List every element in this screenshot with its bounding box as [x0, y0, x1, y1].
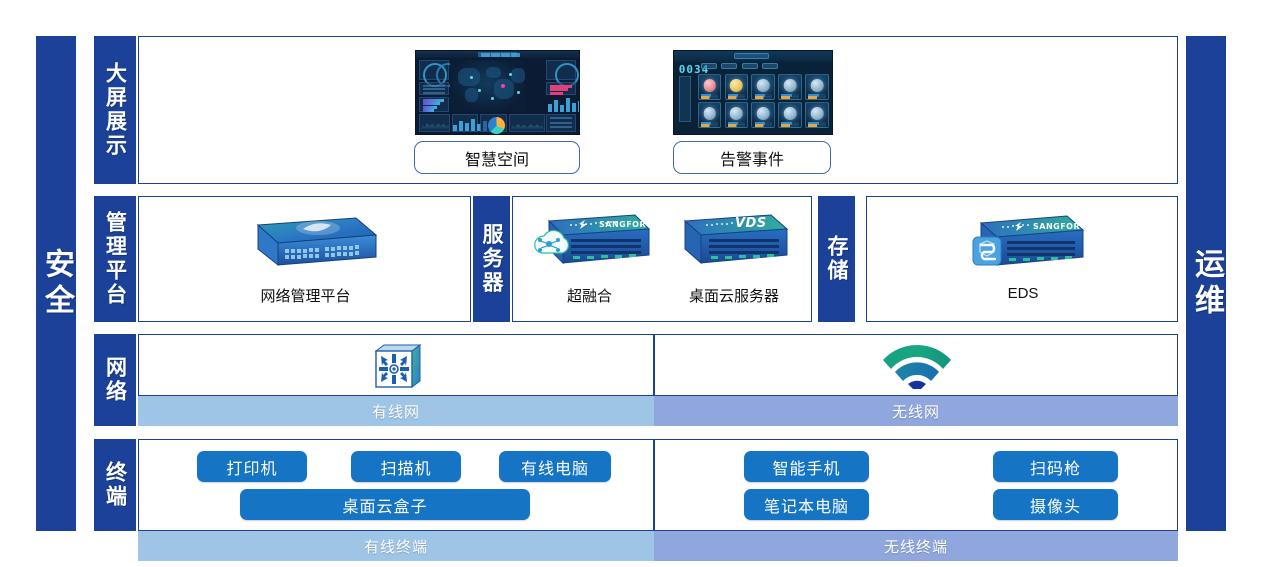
row-label-terminal-text: 终端: [105, 461, 126, 509]
alarm-event-label: 告警事件: [720, 146, 784, 170]
terminal-desktop-cloud-box-label: 桌面云盒子: [342, 493, 427, 517]
svg-text:VDS: VDS: [735, 216, 767, 231]
terminal-scanner[interactable]: 扫描机: [351, 451, 461, 482]
server-panel: SANGFOR 超融合: [512, 196, 812, 322]
row-label-storage: 存储: [818, 196, 855, 322]
terminal-laptop[interactable]: 笔记本电脑: [744, 489, 869, 520]
wireless-terminal-band-label: 无线终端: [884, 536, 948, 557]
wireless-network-band: 无线网: [654, 396, 1178, 426]
switch-icon: [370, 341, 426, 391]
terminal-printer[interactable]: 打印机: [197, 451, 307, 482]
network-management-platform-caption: 网络管理平台: [139, 285, 472, 306]
network-management-platform-icon: [233, 213, 378, 275]
eds-storage-icon: SANGFOR: [959, 211, 1089, 275]
terminal-smartphone[interactable]: 智能手机: [744, 451, 869, 482]
terminal-barcode-scanner-label: 扫码枪: [1030, 455, 1081, 479]
smart-space-label: 智慧空间: [465, 146, 529, 170]
desktop-cloud-server-icon: VDS: [669, 211, 794, 273]
display-row-panel: 智慧空间 0034: [138, 36, 1178, 184]
terminal-scanner-label: 扫描机: [380, 455, 431, 479]
terminal-wired-pc-label: 有线电脑: [521, 455, 589, 479]
wireless-terminal-panel: 智能手机 扫码枪 笔记本电脑 摄像头: [654, 439, 1178, 531]
wired-network-panel: [138, 334, 654, 396]
wired-network-band: 有线网: [138, 396, 654, 426]
terminal-desktop-cloud-box[interactable]: 桌面云盒子: [240, 489, 530, 520]
alarm-mockup: 0034: [674, 51, 832, 134]
row-label-display-text: 大屏展示: [105, 62, 126, 158]
wireless-terminal-band: 无线终端: [654, 531, 1178, 561]
architecture-diagram: 安全 运维 大屏展示: [0, 0, 1261, 567]
row-label-network: 网络: [94, 334, 136, 426]
alarm-event-button[interactable]: 告警事件: [673, 141, 831, 174]
row-label-platform-text: 管理平台: [105, 211, 126, 307]
terminal-smartphone-label: 智能手机: [772, 455, 840, 479]
desktop-cloud-server-caption: 桌面云服务器: [659, 285, 809, 306]
dashboard-mockup: [416, 51, 579, 134]
wired-terminal-band-label: 有线终端: [364, 536, 428, 557]
security-pillar: 安全: [36, 36, 76, 531]
hyperconverged-server-icon: SANGFOR: [527, 211, 652, 273]
wifi-icon: [877, 344, 957, 389]
terminal-barcode-scanner[interactable]: 扫码枪: [993, 451, 1118, 482]
row-label-network-text: 网络: [105, 356, 126, 404]
terminal-printer-label: 打印机: [226, 455, 277, 479]
hyperconverged-server-caption: 超融合: [517, 285, 662, 306]
smart-space-button[interactable]: 智慧空间: [414, 141, 580, 174]
terminal-camera-label: 摄像头: [1030, 493, 1081, 517]
terminal-laptop-label: 笔记本电脑: [764, 493, 849, 517]
operations-pillar: 运维: [1186, 36, 1226, 531]
row-label-server: 服务器: [473, 196, 510, 322]
operations-pillar-label: 运维: [1191, 248, 1221, 320]
terminal-wired-pc[interactable]: 有线电脑: [499, 451, 611, 482]
wired-network-band-label: 有线网: [372, 401, 420, 422]
terminal-camera[interactable]: 摄像头: [993, 489, 1118, 520]
row-label-platform: 管理平台: [94, 196, 136, 322]
wireless-network-panel: [654, 334, 1178, 396]
wireless-network-band-label: 无线网: [892, 401, 940, 422]
row-label-display: 大屏展示: [94, 36, 136, 184]
storage-panel: SANGFOR EDS: [866, 196, 1178, 322]
alarm-event-screen[interactable]: 0034: [673, 50, 833, 135]
row-label-terminal: 终端: [94, 439, 136, 531]
row-label-storage-text: 存储: [826, 235, 847, 283]
security-pillar-label: 安全: [41, 248, 71, 320]
platform-panel: 网络管理平台: [138, 196, 471, 322]
svg-text:SANGFOR: SANGFOR: [1033, 222, 1080, 231]
wired-terminal-panel: 打印机 扫描机 有线电脑 桌面云盒子: [138, 439, 654, 531]
row-label-server-text: 服务器: [481, 223, 502, 295]
wired-terminal-band: 有线终端: [138, 531, 654, 561]
svg-text:SANGFOR: SANGFOR: [599, 220, 646, 229]
eds-storage-caption: EDS: [867, 285, 1179, 302]
smart-space-screen[interactable]: [415, 50, 580, 135]
